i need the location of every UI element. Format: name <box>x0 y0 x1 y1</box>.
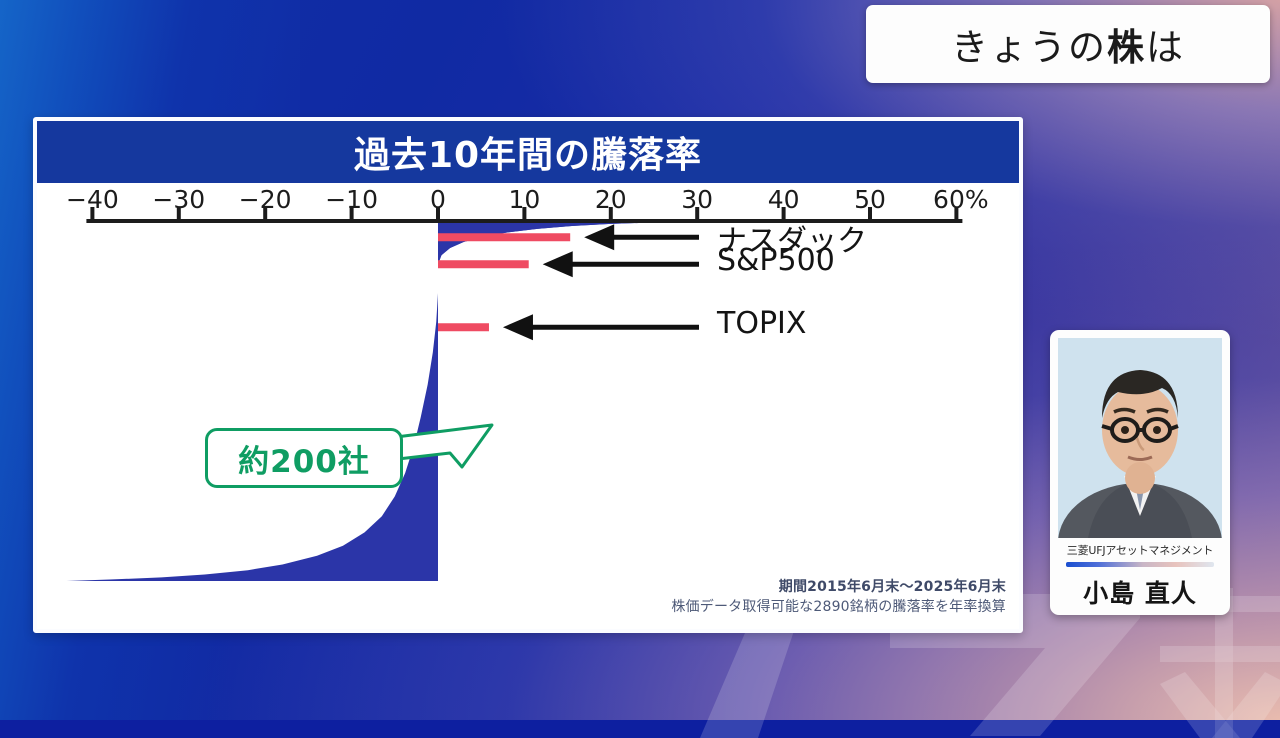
chart-plot-area: −40−30−20−100102030405060% 約200社 ナスダックS&… <box>37 183 1019 625</box>
banner-text-prefix: きょうの <box>951 26 1107 69</box>
footnote-source: 株価データ取得可能な2890銘柄の騰落率を年率換算 <box>671 598 1006 617</box>
footnote-period: 期間2015年6月末〜2025年6月末 <box>671 578 1006 597</box>
chart-title-bar: 過去10年間の騰落率 <box>37 121 1019 183</box>
axis-tick--40: −40 <box>66 185 119 214</box>
commentator-photo <box>1058 338 1222 538</box>
chart-footnote: 期間2015年6月末〜2025年6月末 株価データ取得可能な2890銘柄の騰落率… <box>671 578 1006 617</box>
chart-panel: 過去10年間の騰落率 −40−30−20−100102030405060% 約2… <box>33 117 1023 633</box>
axis-tick-40: 40 <box>768 185 800 214</box>
axis-tick-0: 0 <box>430 185 446 214</box>
chart-svg <box>37 183 1019 625</box>
axis-tick--20: −20 <box>239 185 292 214</box>
commentator-card: 三菱UFJアセットマネジメント 小島 直人 <box>1050 330 1230 615</box>
callout-arrows <box>503 224 699 340</box>
banner-text: きょうの株は <box>951 17 1185 71</box>
axis-tick-60: 60% <box>933 185 989 214</box>
chart-title: 過去10年間の騰落率 <box>354 126 702 178</box>
axis-tick--30: −30 <box>152 185 205 214</box>
axis-tick--10: −10 <box>325 185 378 214</box>
axis-tick-30: 30 <box>681 185 713 214</box>
callout-pointer <box>392 423 502 485</box>
commentator-name: 小島 直人 <box>1050 574 1230 610</box>
callout-label: 約200社 <box>238 436 370 481</box>
program-banner: きょうの株は <box>866 5 1270 83</box>
distribution-curve <box>57 221 766 582</box>
card-divider <box>1066 562 1214 567</box>
series-label: TOPIX <box>717 306 806 341</box>
banner-text-suffix: は <box>1146 26 1185 69</box>
index-markers <box>438 237 570 327</box>
axis-tick-50: 50 <box>854 185 886 214</box>
axis-tick-20: 20 <box>595 185 627 214</box>
axis-tick-10: 10 <box>508 185 540 214</box>
banner-text-bold: 株 <box>1107 26 1146 69</box>
commentator-organization: 三菱UFJアセットマネジメント <box>1050 542 1230 558</box>
callout-box: 約200社 <box>205 428 403 488</box>
series-label: S&P500 <box>717 243 835 278</box>
